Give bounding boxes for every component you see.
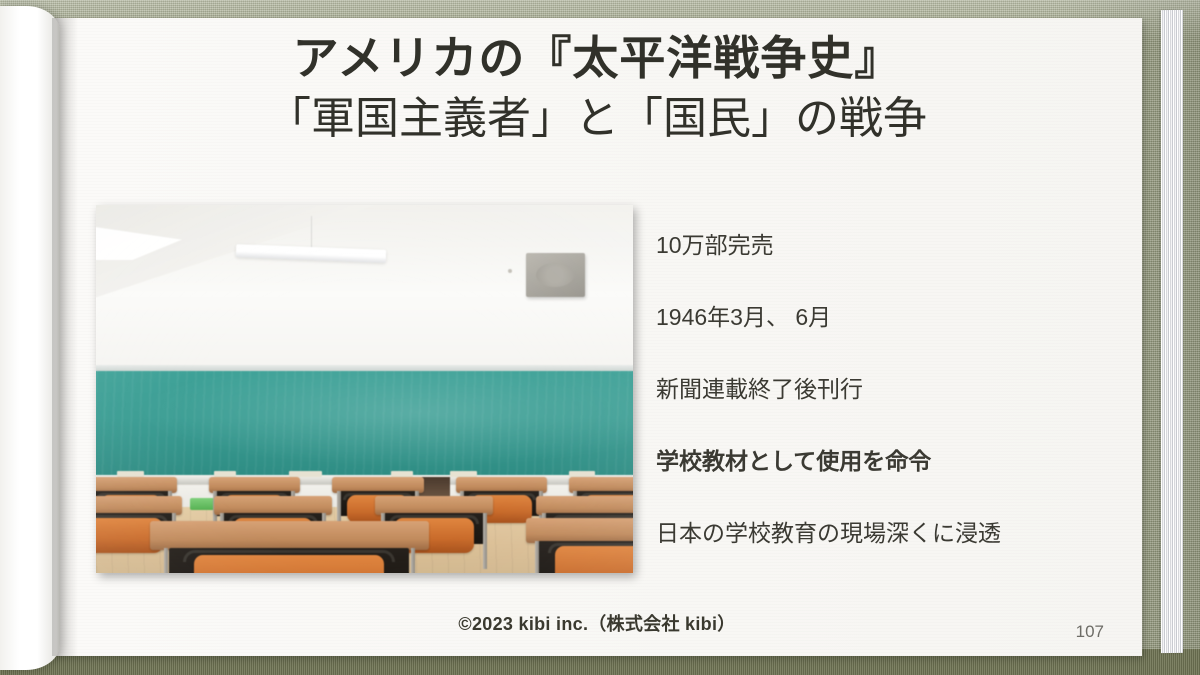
title-line-2: 「軍国主義者」と「国民」の戦争 [52, 90, 1142, 147]
slide-content: アメリカの『太平洋戦争史』 「軍国主義者」と「国民」の戦争 [52, 18, 1142, 656]
classroom-photo [96, 205, 633, 573]
page-number: 107 [1076, 622, 1104, 642]
bullet-list: 10万部完売 1946年3月、 6月 新聞連載終了後刊行 学校教材として使用を命… [656, 230, 1126, 549]
photo-light-rod [311, 216, 312, 249]
page-title: アメリカの『太平洋戦争史』 「軍国主義者」と「国民」の戦争 [52, 30, 1142, 147]
classroom-photo-image [96, 205, 633, 573]
bullet-item: 日本の学校教育の現場深くに浸透 [656, 518, 1126, 549]
book-page-block-edge [1161, 10, 1183, 653]
photo-chalkboard [96, 371, 633, 476]
bullet-item: 10万部完売 [656, 230, 1126, 261]
photo-desk-foreground [526, 518, 633, 573]
slide-stage: アメリカの『太平洋戦争史』 「軍国主義者」と「国民」の戦争 [0, 0, 1200, 675]
photo-wall-speaker [526, 253, 585, 297]
bullet-item-emphasis: 学校教材として使用を命令 [656, 446, 1126, 477]
copyright-notice: ©2023 kibi inc.（株式会社 kibi） [52, 610, 1142, 636]
title-line-1: アメリカの『太平洋戦争史』 [52, 30, 1142, 88]
bullet-item: 新聞連載終了後刊行 [656, 374, 1126, 405]
photo-desk-foreground [150, 521, 429, 573]
book-gutter-page [0, 6, 60, 670]
bullet-item: 1946年3月、 6月 [656, 302, 1126, 333]
